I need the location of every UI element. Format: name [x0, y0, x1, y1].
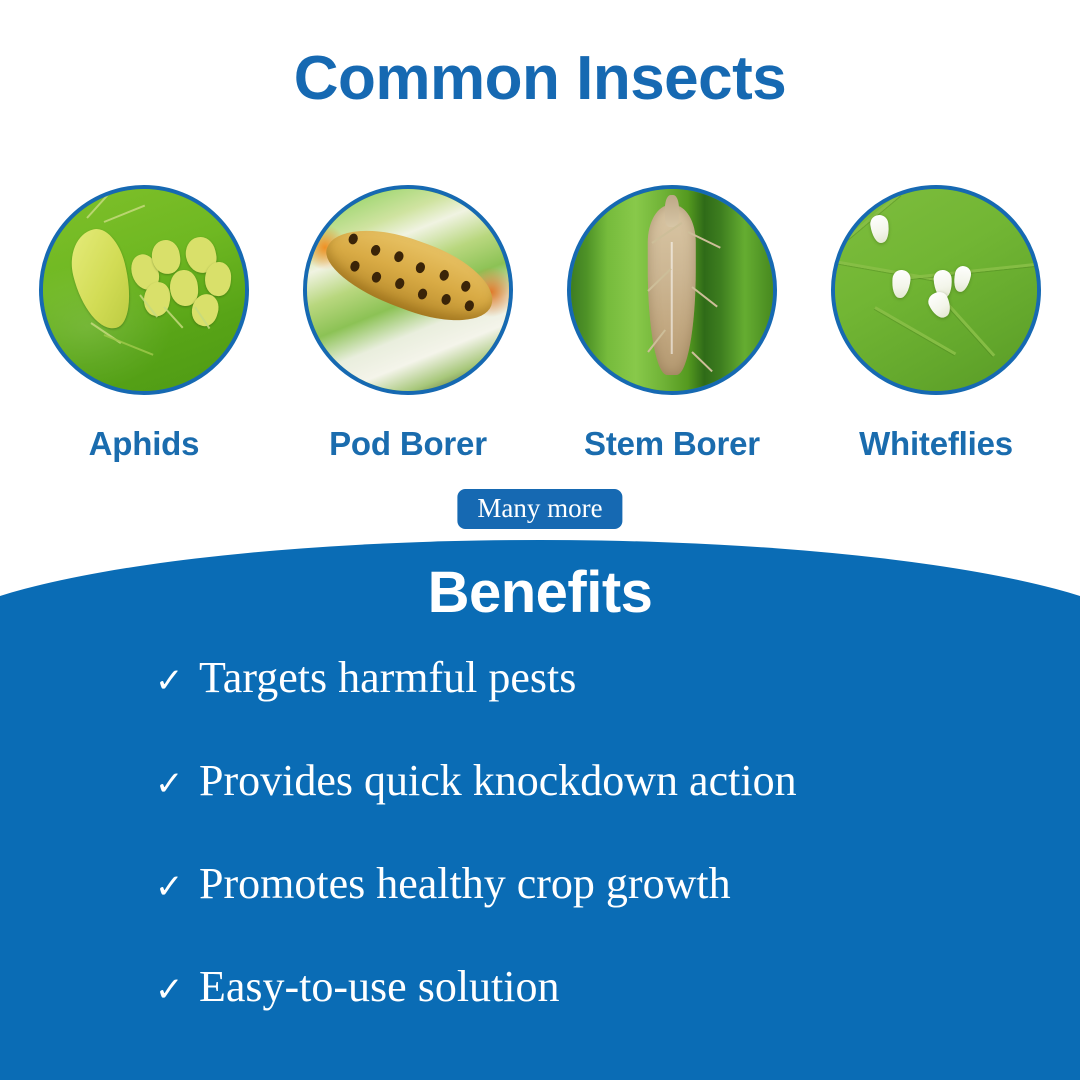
benefits-title: Benefits: [0, 564, 1080, 622]
page-title: Common Insects: [0, 48, 1080, 110]
insect-label-whiteflies: Whiteflies: [859, 425, 1013, 463]
aphid-antenna-icon: [103, 205, 145, 224]
aphid-icon: [64, 225, 139, 336]
insect-card-aphids[interactable]: Aphids: [22, 185, 266, 463]
list-item: ✓ Easy-to-use solution: [155, 965, 1035, 1068]
benefit-text: Targets harmful pests: [199, 656, 576, 700]
many-more-badge[interactable]: Many more: [457, 489, 622, 529]
insect-label-stem-borer: Stem Borer: [584, 425, 760, 463]
aphids-photo-circle: [39, 185, 249, 395]
list-item: ✓ Provides quick knockdown action: [155, 759, 1035, 862]
insect-card-whiteflies[interactable]: Whiteflies: [814, 185, 1058, 463]
aphids-on-leaf-photo: [43, 189, 245, 391]
benefits-content: Benefits ✓ Targets harmful pests ✓ Provi…: [0, 540, 1080, 1080]
check-icon: ✓: [155, 870, 199, 904]
leaf-vein-icon: [831, 258, 946, 283]
insect-card-stem-borer[interactable]: Stem Borer: [550, 185, 794, 463]
benefits-list: ✓ Targets harmful pests ✓ Provides quick…: [155, 656, 1035, 1068]
stem-borer-photo-circle: [567, 185, 777, 395]
whitefly-icon: [869, 214, 891, 245]
whitefly-icon: [890, 269, 911, 299]
aphid-antenna-icon: [87, 188, 116, 219]
whiteflies-photo-circle: [831, 185, 1041, 395]
insect-label-aphids: Aphids: [89, 425, 200, 463]
check-icon: ✓: [155, 767, 199, 801]
list-item: ✓ Targets harmful pests: [155, 656, 1035, 759]
insect-label-pod-borer: Pod Borer: [329, 425, 487, 463]
benefit-text: Provides quick knockdown action: [199, 759, 797, 803]
benefits-section: Benefits ✓ Targets harmful pests ✓ Provi…: [0, 540, 1080, 1080]
check-icon: ✓: [155, 664, 199, 698]
infographic-poster: Common Insects: [0, 0, 1080, 1080]
benefit-text: Promotes healthy crop growth: [199, 862, 731, 906]
leaf-vein-icon: [103, 335, 152, 357]
moth-leg-icon: [691, 351, 713, 372]
insect-card-pod-borer[interactable]: Pod Borer: [286, 185, 530, 463]
aphid-leg-icon: [163, 306, 183, 328]
pod-borer-photo-circle: [303, 185, 513, 395]
benefit-text: Easy-to-use solution: [199, 965, 560, 1009]
moth-leg-icon: [692, 286, 719, 307]
list-item: ✓ Promotes healthy crop growth: [155, 862, 1035, 965]
insect-card-grid: Aphids: [22, 185, 1058, 463]
check-icon: ✓: [155, 973, 199, 1007]
whitefly-icon: [952, 264, 973, 293]
pod-borer-caterpillar-photo: [307, 189, 509, 391]
whiteflies-on-leaf-photo: [835, 189, 1037, 391]
common-insects-section: Common Insects: [0, 0, 1080, 560]
moth-head-icon: [665, 195, 679, 227]
stem-borer-moth-photo: [571, 189, 773, 391]
